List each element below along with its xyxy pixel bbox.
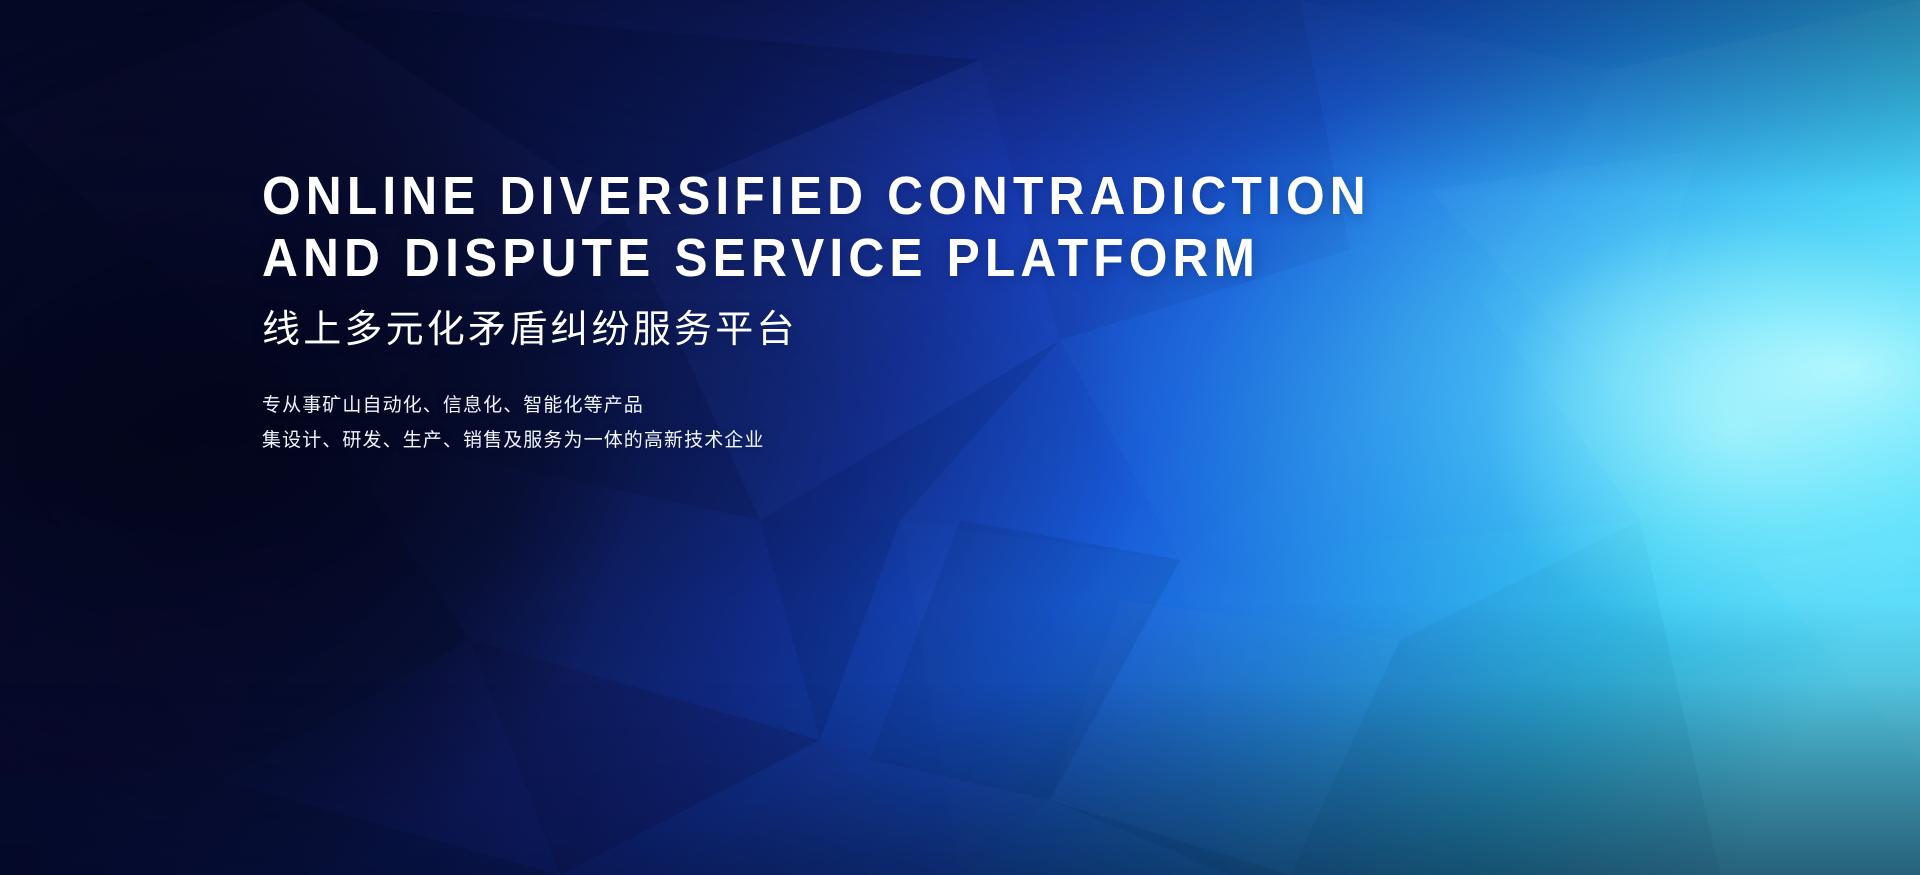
hero-description: 专从事矿山自动化、信息化、智能化等产品 集设计、研发、生产、销售及服务为一体的高… (262, 388, 1442, 458)
hero-description-line-2: 集设计、研发、生产、销售及服务为一体的高新技术企业 (262, 423, 1442, 458)
hero-description-line-1: 专从事矿山自动化、信息化、智能化等产品 (262, 388, 1442, 423)
hero-title-line-2: AND DISPUTE SERVICE PLATFORM (262, 230, 1348, 286)
hero-banner: ONLINE DIVERSIFIED CONTRADICTION AND DIS… (0, 0, 1920, 875)
hero-subtitle-chinese: 线上多元化矛盾纠纷服务平台 (262, 306, 1442, 354)
hero-title-line-1: ONLINE DIVERSIFIED CONTRADICTION (262, 168, 1348, 224)
hero-content: ONLINE DIVERSIFIED CONTRADICTION AND DIS… (262, 168, 1442, 458)
